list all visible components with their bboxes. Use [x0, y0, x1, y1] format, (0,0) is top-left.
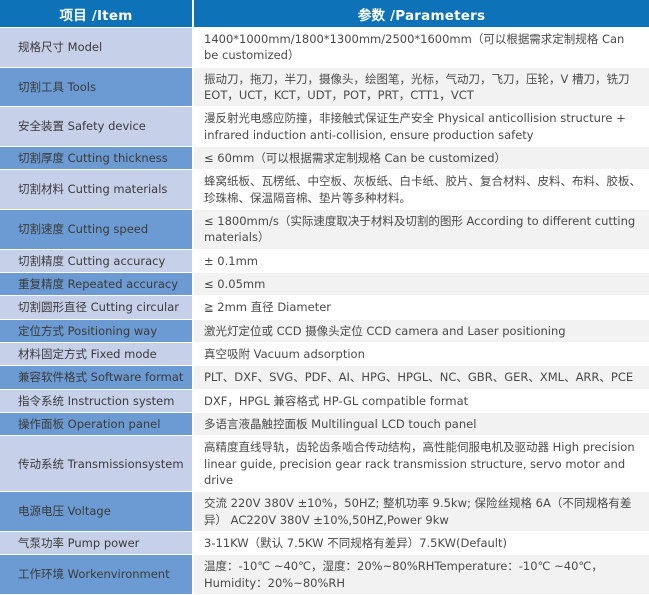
cell-parameter: 漫反射光电感应防撞，非接触式保证生产安全 Physical anticollis…	[193, 107, 649, 147]
cell-item: 规格尺寸 Model	[0, 28, 193, 68]
table-row: 指令系统 Instruction systemDXF，HPGL 兼容格式 HP-…	[0, 389, 649, 412]
table-header: 项目 /Item 参数 /Parameters	[0, 0, 649, 28]
cell-item: 安全装置 Safety device	[0, 107, 193, 147]
cell-parameter: ± 0.1mm	[193, 249, 649, 272]
cell-item: 气泵功率 Pump power	[0, 531, 193, 554]
table-header-row: 项目 /Item 参数 /Parameters	[0, 0, 649, 28]
table-row: 重复精度 Repeated accuracy≤ 0.05mm	[0, 272, 649, 295]
cell-item: 传动系统 Transmissionsystem	[0, 436, 193, 492]
cell-parameter: PLT、DXF、SVG、PDF、AI、HPG、HPGL、NC、GBR、GER、X…	[193, 366, 649, 389]
cell-parameter: ≧ 2mm 直径 Diameter	[193, 296, 649, 319]
cell-parameter: ≤ 0.05mm	[193, 272, 649, 295]
table-body: 规格尺寸 Model1400*1000mm/1800*1300mm/2500*1…	[0, 28, 649, 595]
cell-item: 切割材料 Cutting materials	[0, 170, 193, 210]
cell-parameter: DXF，HPGL 兼容格式 HP-GL compatible format	[193, 389, 649, 412]
cell-item: 切割工具 Tools	[0, 67, 193, 107]
table-row: 切割圆形直径 Cutting circular≧ 2mm 直径 Diameter	[0, 296, 649, 319]
cell-item: 切割速度 Cutting speed	[0, 209, 193, 249]
column-header-item: 项目 /Item	[0, 0, 193, 28]
cell-item: 切割厚度 Cutting thickness	[0, 146, 193, 169]
table-row: 工作环境 Workenvironment温度：-10℃ ~40℃，湿度：20%~…	[0, 555, 649, 595]
cell-item: 指令系统 Instruction system	[0, 389, 193, 412]
column-header-parameters: 参数 /Parameters	[193, 0, 649, 28]
table-row: 气泵功率 Pump power3-11KW（默认 7.5KW 不同规格有差异）7…	[0, 531, 649, 554]
cell-parameter: 高精度直线导轨，齿轮齿条啮合传动结构，高性能伺服电机及驱动器 High prec…	[193, 436, 649, 492]
table-row: 材料固定方式 Fixed mode真空吸附 Vacuum adsorption	[0, 342, 649, 365]
table-row: 安全装置 Safety device漫反射光电感应防撞，非接触式保证生产安全 P…	[0, 107, 649, 147]
table-row: 切割厚度 Cutting thickness≤ 60mm（可以根据需求定制规格 …	[0, 146, 649, 169]
table-row: 传动系统 Transmissionsystem高精度直线导轨，齿轮齿条啮合传动结…	[0, 436, 649, 492]
table-row: 切割材料 Cutting materials蜂窝纸板、瓦楞纸、中空板、灰板纸、白…	[0, 170, 649, 210]
specifications-table: 项目 /Item 参数 /Parameters 规格尺寸 Model1400*1…	[0, 0, 649, 595]
cell-parameter: 激光灯定位或 CCD 摄像头定位 CCD camera and Laser po…	[193, 319, 649, 342]
cell-item: 电源电压 Voltage	[0, 492, 193, 532]
cell-parameter: 1400*1000mm/1800*1300mm/2500*1600mm（可以根据…	[193, 28, 649, 68]
table-row: 兼容软件格式 Software formatPLT、DXF、SVG、PDF、AI…	[0, 366, 649, 389]
cell-item: 切割精度 Cutting accuracy	[0, 249, 193, 272]
table-row: 规格尺寸 Model1400*1000mm/1800*1300mm/2500*1…	[0, 28, 649, 68]
cell-parameter: 多语言液晶触控面板 Multilingual LCD touch panel	[193, 412, 649, 435]
cell-item: 定位方式 Positioning way	[0, 319, 193, 342]
cell-item: 重复精度 Repeated accuracy	[0, 272, 193, 295]
table-row: 操作面板 Operation panel多语言液晶触控面板 Multilingu…	[0, 412, 649, 435]
table-row: 电源电压 Voltage交流 220V 380V ±10%，50HZ; 整机功率…	[0, 492, 649, 532]
cell-parameter: 振动刀，拖刀，半刀，摄像头，绘图笔，光标，气动刀，飞刀，压轮，V 槽刀，铣刀 E…	[193, 67, 649, 107]
cell-item: 兼容软件格式 Software format	[0, 366, 193, 389]
table-row: 切割工具 Tools振动刀，拖刀，半刀，摄像头，绘图笔，光标，气动刀，飞刀，压轮…	[0, 67, 649, 107]
table-row: 切割速度 Cutting speed≤ 1800mm/s（实际速度取决于材料及切…	[0, 209, 649, 249]
cell-parameter: 蜂窝纸板、瓦楞纸、中空板、灰板纸、白卡纸、胶片、复合材料、皮料、布料、胶板、珍珠…	[193, 170, 649, 210]
cell-parameter: ≤ 1800mm/s（实际速度取决于材料及切割的图形 According to …	[193, 209, 649, 249]
cell-item: 操作面板 Operation panel	[0, 412, 193, 435]
cell-parameter: 交流 220V 380V ±10%，50HZ; 整机功率 9.5kw; 保险丝规…	[193, 492, 649, 532]
table-row: 切割精度 Cutting accuracy± 0.1mm	[0, 249, 649, 272]
cell-parameter: 3-11KW（默认 7.5KW 不同规格有差异）7.5KW(Default)	[193, 531, 649, 554]
cell-parameter: ≤ 60mm（可以根据需求定制规格 Can be customized）	[193, 146, 649, 169]
table-row: 定位方式 Positioning way激光灯定位或 CCD 摄像头定位 CCD…	[0, 319, 649, 342]
cell-item: 材料固定方式 Fixed mode	[0, 342, 193, 365]
cell-parameter: 真空吸附 Vacuum adsorption	[193, 342, 649, 365]
cell-item: 工作环境 Workenvironment	[0, 555, 193, 595]
cell-item: 切割圆形直径 Cutting circular	[0, 296, 193, 319]
cell-parameter: 温度：-10℃ ~40℃，湿度：20%~80%RHTemperature：-10…	[193, 555, 649, 595]
